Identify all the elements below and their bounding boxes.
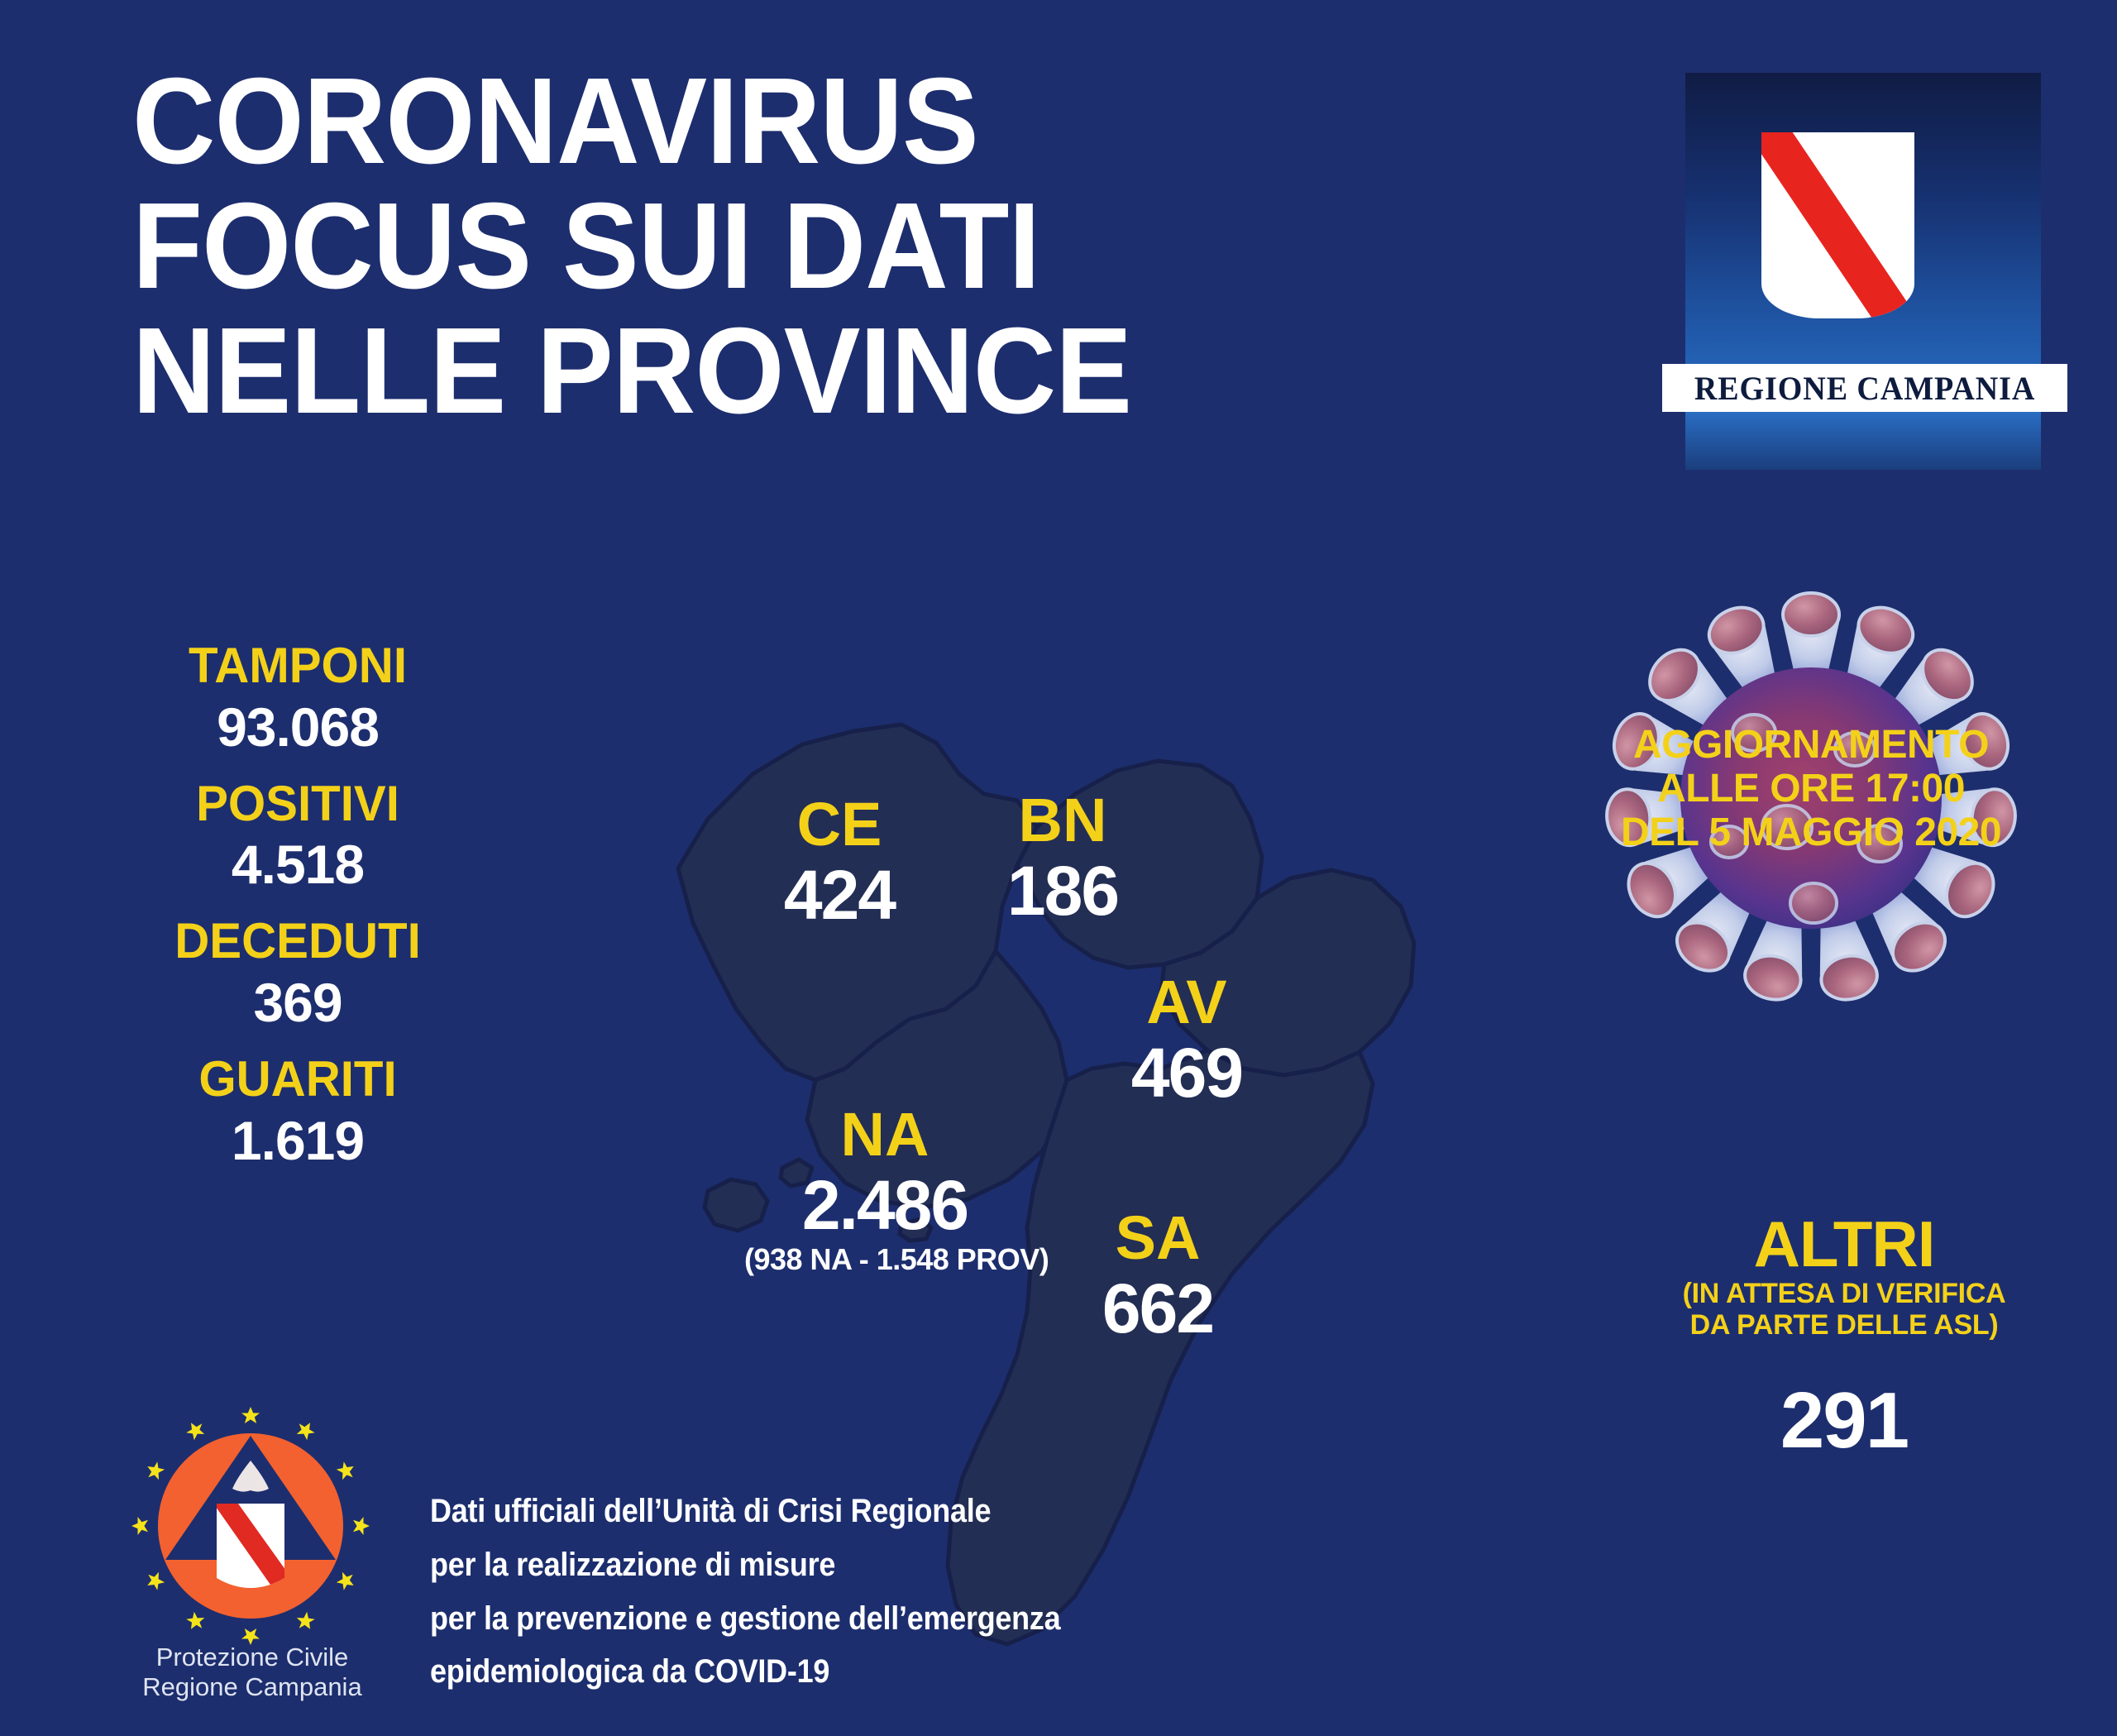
stat-deceduti: DECEDUTI 369 [132,912,463,1035]
province-value: 424 [748,855,930,935]
campania-shield-icon [210,1492,296,1593]
altri-note: (IN ATTESA DI VERIFICA DA PARTE DELLE AS… [1621,1278,2067,1341]
stat-value: 93.068 [132,696,463,760]
stat-label: TAMPONI [137,637,458,696]
stat-value: 4.518 [132,833,463,897]
footer-line-4: epidemiologica da COVID-19 [430,1645,1100,1699]
altri-note-line-2: DA PARTE DELLE ASL) [1621,1309,2067,1341]
footer-line-2: per la realizzazione di misure [430,1538,1100,1592]
pc-caption-line-2: Regione Campania [116,1672,389,1702]
province-label-ce: CE 424 [748,794,930,935]
province-value: 662 [1067,1269,1249,1349]
altri-title: ALTRI [1621,1212,2067,1276]
stat-value: 369 [132,971,463,1035]
province-code: CE [748,794,930,855]
footer-note: Dati ufficiali dell’Unità di Crisi Regio… [430,1485,1100,1699]
province-label-bn: BN 186 [972,790,1154,931]
province-value: 469 [1096,1033,1278,1113]
title-line-1: CORONAVIRUS [132,60,1392,184]
altri-panel: ALTRI (IN ATTESA DI VERIFICA DA PARTE DE… [1621,1212,2067,1466]
update-line-1: AGGIORNAMENTO [1575,724,2047,768]
province-value: 186 [972,851,1154,931]
province-code: BN [972,790,1154,851]
province-code: SA [1067,1208,1249,1269]
province-code: AV [1096,972,1278,1033]
update-timestamp: AGGIORNAMENTO ALLE ORE 17:00 DEL 5 MAGGI… [1575,724,2047,854]
protezione-civile-logo: Protezione Civile Regione Campania [116,1406,389,1720]
stat-label: DECEDUTI [137,912,458,971]
pc-caption-line-1: Protezione Civile [116,1643,389,1672]
province-label-na: NA 2.486 (938 NA - 1.548 PROV) [744,1104,1025,1277]
footer-line-1: Dati ufficiali dell’Unità di Crisi Regio… [430,1485,1100,1538]
title-line-3: NELLE PROVINCE [132,309,1392,434]
page-title: CORONAVIRUS FOCUS SUI DATI NELLE PROVINC… [132,60,1392,434]
logo-nameplate: REGIONE CAMPANIA [1662,364,2067,412]
stat-positivi: POSITIVI 4.518 [132,775,463,898]
province-value: 2.486 [744,1165,1025,1246]
protezione-civile-emblem-icon [131,1406,370,1646]
altri-value: 291 [1621,1375,2067,1466]
footer-line-3: per la prevenzione e gestione dell’emerg… [430,1592,1100,1646]
statistics-panel: TAMPONI 93.068 POSITIVI 4.518 DECEDUTI 3… [132,637,463,1188]
regione-campania-logo: REGIONE CAMPANIA [1662,73,2067,470]
province-breakdown: (938 NA - 1.548 PROV) [744,1242,1025,1277]
update-line-2: ALLE ORE 17:00 [1575,768,2047,811]
protezione-civile-caption: Protezione Civile Regione Campania [116,1643,389,1701]
infographic-canvas: CORONAVIRUS FOCUS SUI DATI NELLE PROVINC… [0,0,2117,1736]
campania-shield-icon [1761,132,1914,318]
stat-label: POSITIVI [137,775,458,834]
update-line-3: DEL 5 MAGGIO 2020 [1575,811,2047,855]
altri-note-line-1: (IN ATTESA DI VERIFICA [1621,1278,2067,1309]
province-label-sa: SA 662 [1067,1208,1249,1349]
title-line-2: FOCUS SUI DATI [132,184,1392,309]
stat-label: GUARITI [137,1050,458,1109]
stat-guariti: GUARITI 1.619 [132,1050,463,1174]
stat-tamponi: TAMPONI 93.068 [132,637,463,760]
province-label-av: AV 469 [1096,972,1278,1113]
province-code: NA [744,1104,1025,1165]
stat-value: 1.619 [132,1109,463,1174]
regione-campania-label: REGIONE CAMPANIA [1694,369,2035,408]
